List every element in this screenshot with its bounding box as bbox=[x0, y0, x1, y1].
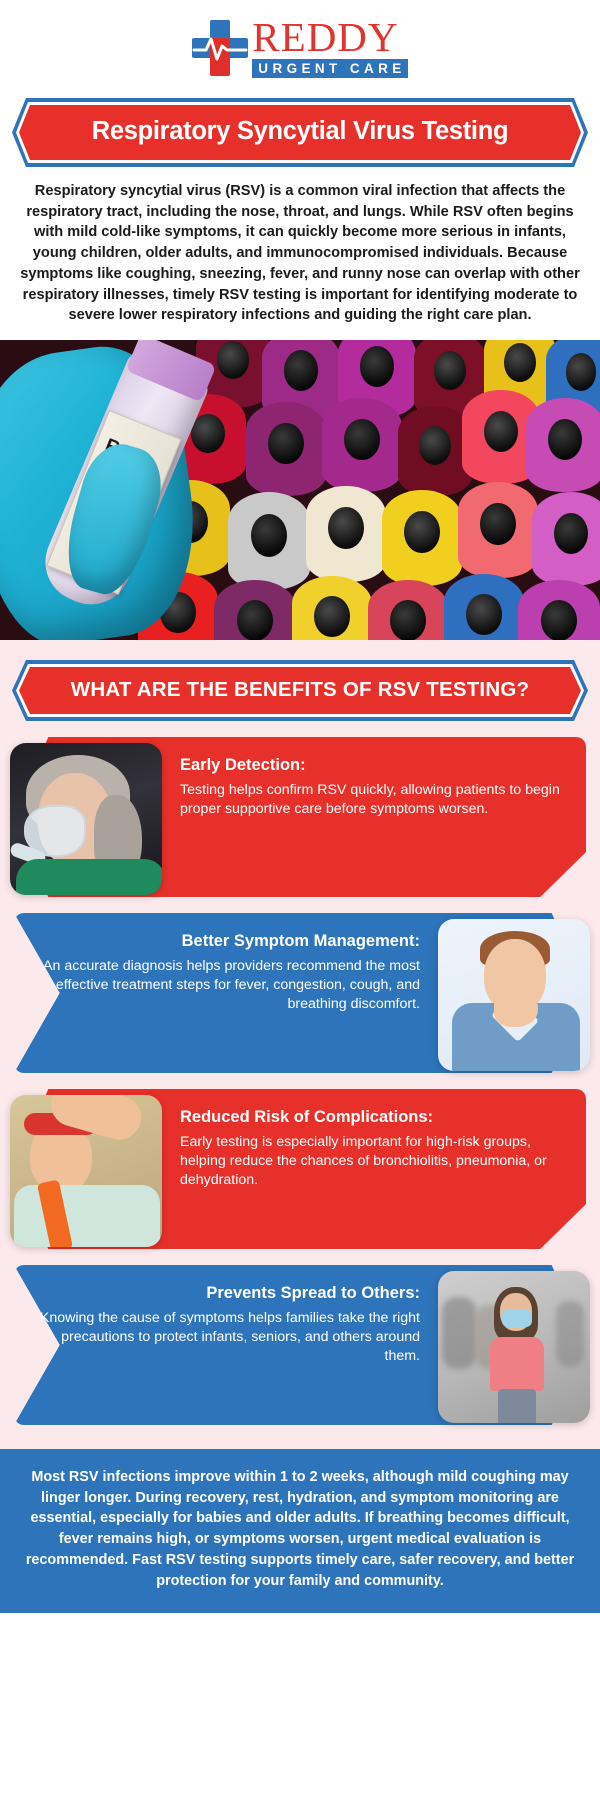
benefit-title: Early Detection: bbox=[180, 755, 570, 775]
brand-logo: REDDY URGENT CARE bbox=[0, 0, 600, 88]
medical-cross-heartbeat-icon bbox=[192, 20, 248, 76]
infographic-page: REDDY URGENT CARE Respiratory Syncytial … bbox=[0, 0, 600, 1799]
benefit-card-reduced-risk-of-complications[interactable]: Reduced Risk of Complications: Early tes… bbox=[14, 1089, 586, 1249]
masked-woman-in-crowd-photo bbox=[438, 1271, 590, 1423]
benefit-text: Early testing is especially important fo… bbox=[180, 1133, 570, 1190]
benefit-title: Better Symptom Management: bbox=[30, 931, 420, 951]
intro-paragraph: Respiratory syncytial virus (RSV) is a c… bbox=[18, 181, 582, 326]
benefit-card-better-symptom-management[interactable]: Better Symptom Management: An accurate d… bbox=[14, 913, 586, 1073]
page-title: Respiratory Syncytial Virus Testing bbox=[19, 105, 581, 160]
benefit-text: An accurate diagnosis helps providers re… bbox=[30, 957, 420, 1014]
benefit-card-prevents-spread-to-others[interactable]: Prevents Spread to Others: Knowing the c… bbox=[14, 1265, 586, 1425]
benefit-text: Testing helps confirm RSV quickly, allow… bbox=[180, 781, 570, 819]
footer-summary: Most RSV infections improve within 1 to … bbox=[0, 1449, 600, 1613]
benefit-title: Reduced Risk of Complications: bbox=[180, 1107, 570, 1127]
young-man-coughing-photo bbox=[438, 919, 590, 1071]
benefits-section: WHAT ARE THE BENEFITS OF RSV TESTING? Ea… bbox=[0, 640, 600, 1449]
elder-woman-oxygen-mask-photo bbox=[10, 743, 162, 895]
page-title-banner: Respiratory Syncytial Virus Testing bbox=[12, 98, 588, 167]
brand-tagline: URGENT CARE bbox=[252, 59, 407, 78]
benefits-heading: WHAT ARE THE BENEFITS OF RSV TESTING? bbox=[19, 667, 581, 714]
benefits-heading-banner: WHAT ARE THE BENEFITS OF RSV TESTING? bbox=[12, 660, 588, 721]
benefit-text: Knowing the cause of symptoms helps fami… bbox=[30, 1309, 420, 1366]
hero-photo: RSV + bbox=[0, 340, 600, 640]
benefit-card-early-detection[interactable]: Early Detection: Testing helps confirm R… bbox=[14, 737, 586, 897]
brand-name: REDDY bbox=[252, 18, 407, 57]
woman-wiping-sweat-fever-photo bbox=[10, 1095, 162, 1247]
benefit-title: Prevents Spread to Others: bbox=[30, 1283, 420, 1303]
